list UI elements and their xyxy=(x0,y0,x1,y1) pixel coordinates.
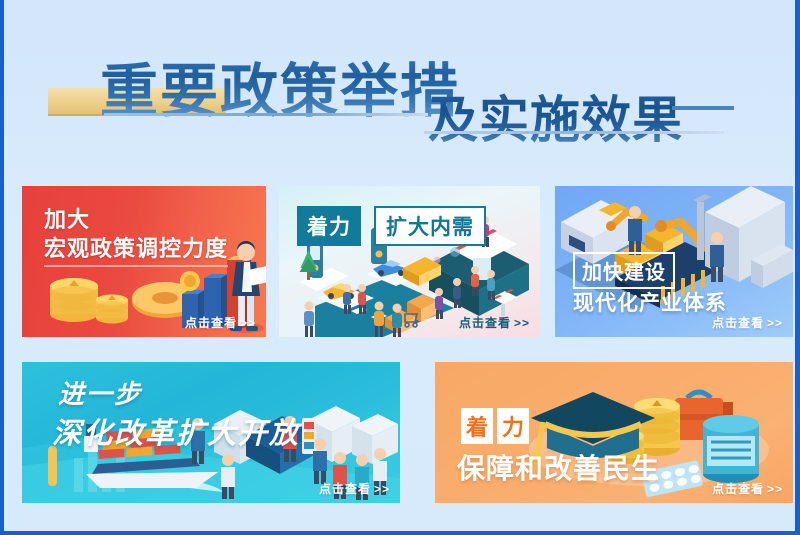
card2-cta-label: 点击查看 xyxy=(459,316,511,330)
card5-title-char1: 着 xyxy=(461,408,493,444)
card1-cta-arrows-icon: >> xyxy=(240,316,256,330)
card1-title-line1: 加大 xyxy=(44,202,90,234)
card2-title-box-a: 着力 xyxy=(297,206,361,246)
card4-cta-arrows-icon: >> xyxy=(374,482,390,496)
card5-title-line2: 保障和改善民生 xyxy=(457,447,660,487)
title-underline-secondary xyxy=(424,131,724,134)
card4-cta-label: 点击查看 xyxy=(319,482,371,496)
title-trailing-dash xyxy=(672,106,734,110)
policy-card-jiada[interactable]: 加大 宏观政策调控力度 点击查看>> xyxy=(22,186,266,337)
card3-title-line2: 现代化产业体系 xyxy=(573,287,727,317)
card5-cta[interactable]: 点击查看>> xyxy=(712,480,783,497)
card1-title-line2: 宏观政策调控力度 xyxy=(44,231,228,263)
card3-cta-arrows-icon: >> xyxy=(767,316,783,330)
card3-cta-label: 点击查看 xyxy=(712,316,764,330)
policy-card-kuodaneixu[interactable]: 着力 扩大内需 点击查看>> xyxy=(279,186,540,337)
card1-cta[interactable]: 点击查看>> xyxy=(185,314,256,331)
card1-cta-label: 点击查看 xyxy=(185,316,237,330)
card3-cta[interactable]: 点击查看>> xyxy=(712,314,783,331)
card5-cta-label: 点击查看 xyxy=(712,482,764,496)
card2-title-b-label: 扩大内需 xyxy=(386,216,474,239)
page-root: 重要政策举措 及实施效果 xyxy=(0,0,800,535)
page-header: 重要政策举措 及实施效果 xyxy=(4,0,800,172)
card5-cta-arrows-icon: >> xyxy=(767,482,783,496)
policy-card-chanyetixi[interactable]: 加快建设 现代化产业体系 点击查看>> xyxy=(555,186,793,337)
card3-title-box-a: 加快建设 xyxy=(573,252,675,289)
title-underline-primary xyxy=(104,113,428,116)
card5-title-char2: 力 xyxy=(497,408,529,444)
card2-cta[interactable]: 点击查看>> xyxy=(459,314,530,331)
policy-card-gaige-kaifang[interactable]: 进一步 深化改革扩大开放 点击查看>> xyxy=(22,362,400,503)
card3-title-a-label: 加快建设 xyxy=(582,262,666,284)
card2-title-a-label: 着力 xyxy=(307,216,351,239)
page-title-line2: 及实施效果 xyxy=(428,80,683,152)
card4-title-line1: 进一步 xyxy=(58,374,142,411)
card2-cta-arrows-icon: >> xyxy=(514,316,530,330)
card4-cta[interactable]: 点击查看>> xyxy=(319,480,390,497)
card2-title-box-b: 扩大内需 xyxy=(374,206,486,246)
policy-card-minsheng[interactable]: 着 力 保障和改善民生 点击查看>> xyxy=(435,362,793,503)
card5-title-box-a: 着 力 xyxy=(461,408,529,444)
card4-title-line2: 深化改革扩大开放 xyxy=(52,410,300,452)
